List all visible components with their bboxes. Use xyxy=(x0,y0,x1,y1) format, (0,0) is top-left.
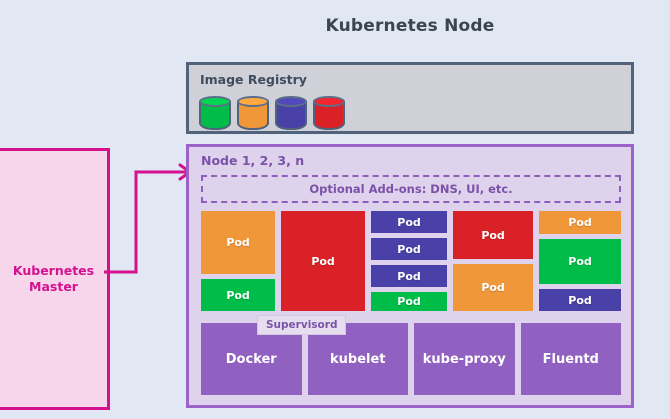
kubernetes-master-box: Kubernetes Master xyxy=(0,148,110,410)
pod-column-2: Pod xyxy=(281,211,365,311)
pod: Pod xyxy=(201,279,275,311)
registry-image-green-top xyxy=(199,96,231,107)
service-fluentd: Fluentd xyxy=(521,323,622,395)
registry-cylinder-group xyxy=(199,96,345,130)
diagram-canvas: Kubernetes Node Kubernetes Master Image … xyxy=(0,0,670,419)
registry-image-orange xyxy=(237,96,269,130)
supervisord-label: Supervisord xyxy=(257,315,346,335)
pod-column-5: PodPodPod xyxy=(539,211,621,311)
optional-addons-box: Optional Add-ons: DNS, UI, etc. xyxy=(201,175,621,203)
registry-image-orange-top xyxy=(237,96,269,107)
pods-grid: PodPodPodPodPodPodPodPodPodPodPodPod xyxy=(201,211,621,311)
pod: Pod xyxy=(371,292,447,311)
image-registry-box: Image Registry xyxy=(186,62,634,134)
pod-column-1: PodPod xyxy=(201,211,275,311)
pod: Pod xyxy=(371,238,447,260)
pod: Pod xyxy=(453,264,533,311)
pod: Pod xyxy=(539,289,621,311)
pod: Pod xyxy=(371,265,447,287)
registry-image-red xyxy=(313,96,345,130)
pod: Pod xyxy=(539,239,621,284)
registry-image-purple xyxy=(275,96,307,130)
pod-column-3: PodPodPodPod xyxy=(371,211,447,311)
service-kube-proxy: kube-proxy xyxy=(414,323,515,395)
pod: Pod xyxy=(201,211,275,274)
pod: Pod xyxy=(281,211,365,311)
optional-addons-label: Optional Add-ons: DNS, UI, etc. xyxy=(309,182,512,196)
page-title: Kubernetes Node xyxy=(185,16,635,36)
pod-column-4: PodPod xyxy=(453,211,533,311)
master-to-node-arrow xyxy=(104,160,199,285)
pod: Pod xyxy=(539,211,621,234)
node-label: Node 1, 2, 3, n xyxy=(201,153,304,168)
registry-image-red-top xyxy=(313,96,345,107)
kubernetes-master-label: Kubernetes Master xyxy=(0,263,107,295)
kubernetes-node-box: Node 1, 2, 3, n Optional Add-ons: DNS, U… xyxy=(186,144,634,408)
image-registry-label: Image Registry xyxy=(200,72,307,87)
pod: Pod xyxy=(371,211,447,233)
pod: Pod xyxy=(453,211,533,259)
registry-image-purple-top xyxy=(275,96,307,107)
registry-image-green xyxy=(199,96,231,130)
